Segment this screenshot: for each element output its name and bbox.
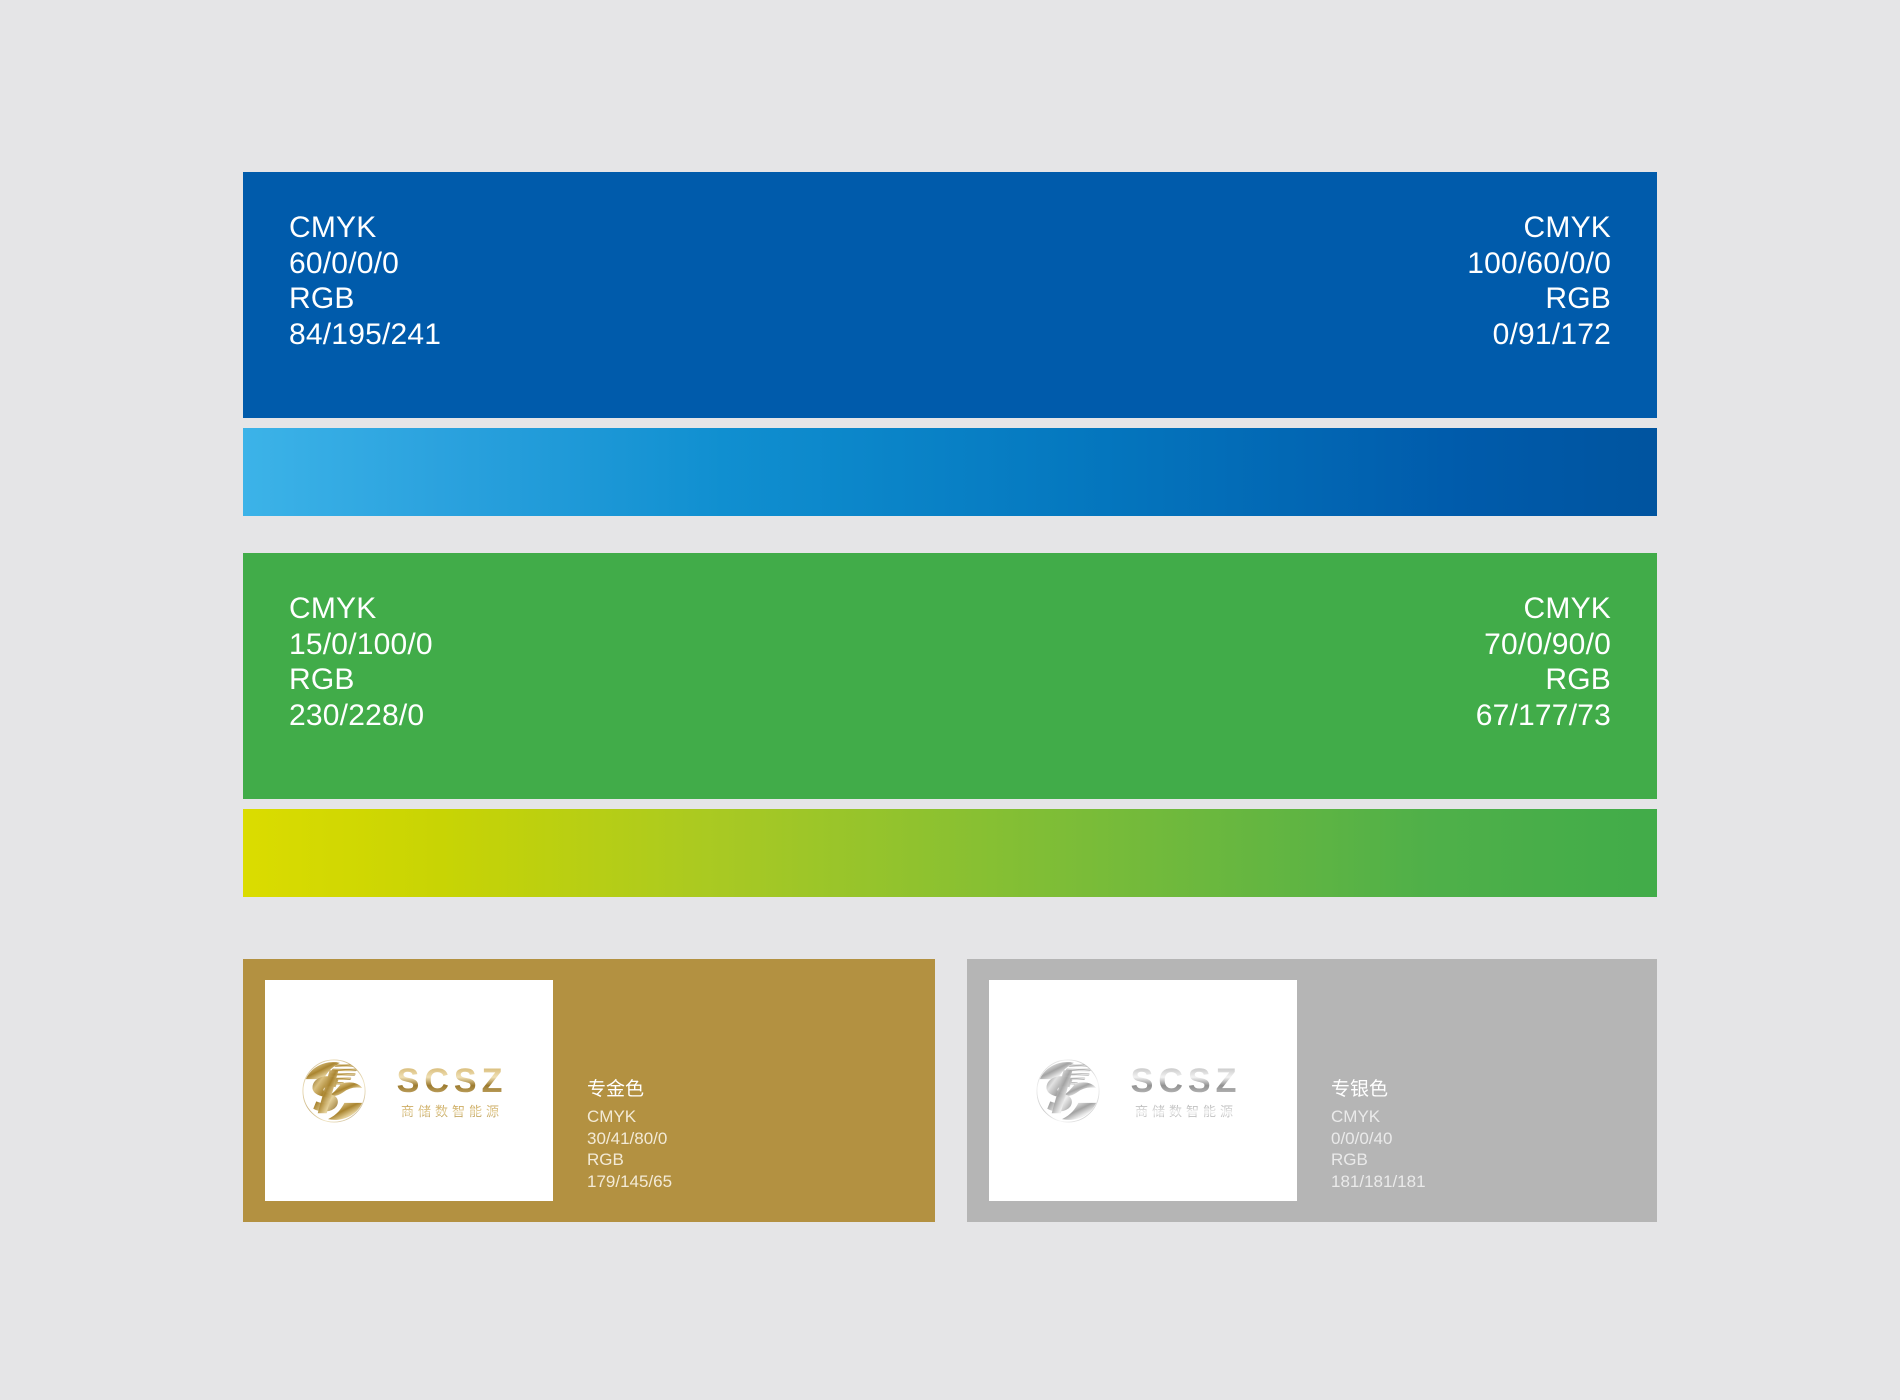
rgb-label: RGB [587,1149,672,1171]
rgb-label: RGB [289,281,441,317]
cmyk-label: CMYK [1467,210,1611,246]
scsz-letters-icon: SCSZ [382,1061,522,1101]
rgb-value: 179/145/65 [587,1171,672,1193]
silver-card-title: 专银色 [1331,1077,1426,1102]
gold-logo-card: SCSZ 商储数智能源 专金色 [243,959,935,1222]
scsz-emblem-icon [1031,1054,1105,1128]
cmyk-label: CMYK [587,1106,672,1128]
scsz-subtitle-icon: 商储数智能源 [382,1101,522,1121]
blue-gradient-bar [243,428,1657,516]
silver-logo-card: SCSZ 商储数智能源 专银色 [967,959,1657,1222]
rgb-value: 230/228/0 [289,698,433,734]
cmyk-value: 100/60/0/0 [1467,246,1611,282]
rgb-value: 67/177/73 [1476,698,1611,734]
cmyk-label: CMYK [289,591,433,627]
cmyk-value: 30/41/80/0 [587,1128,672,1150]
blue-color-swatch: CMYK 60/0/0/0 RGB 84/195/241 CMYK 100/60… [243,172,1657,418]
rgb-value: 84/195/241 [289,317,441,353]
rgb-label: RGB [289,662,433,698]
gold-logo-plate: SCSZ 商储数智能源 [265,980,553,1201]
rgb-value: 181/181/181 [1331,1171,1426,1193]
cmyk-label: CMYK [1476,591,1611,627]
rgb-label: RGB [1331,1149,1426,1171]
scsz-logo-silver: SCSZ 商储数智能源 [1031,1054,1256,1128]
rgb-label: RGB [1476,662,1611,698]
gold-card-title: 专金色 [587,1077,672,1102]
silver-card-spec: 专银色 CMYK 0/0/0/40 RGB 181/181/181 [1331,1077,1426,1192]
silver-logo-plate: SCSZ 商储数智能源 [989,980,1297,1201]
rgb-value: 0/91/172 [1467,317,1611,353]
cmyk-value: 70/0/90/0 [1476,627,1611,663]
gold-card-spec: 专金色 CMYK 30/41/80/0 RGB 179/145/65 [587,1077,672,1192]
green-swatch-right-spec: CMYK 70/0/90/0 RGB 67/177/73 [1476,591,1611,733]
svg-text:商储数智能源: 商储数智能源 [1134,1105,1236,1120]
scsz-wordmark-gold: SCSZ 商储数智能源 [382,1061,522,1121]
green-color-swatch: CMYK 15/0/100/0 RGB 230/228/0 CMYK 70/0/… [243,553,1657,799]
cmyk-label: CMYK [289,210,441,246]
rgb-label: RGB [1467,281,1611,317]
scsz-logo-gold: SCSZ 商储数智能源 [297,1054,522,1128]
scsz-emblem-icon [297,1054,371,1128]
cmyk-value: 60/0/0/0 [289,246,441,282]
svg-text:SCSZ: SCSZ [1130,1062,1241,1100]
cmyk-value: 0/0/0/40 [1331,1128,1426,1150]
green-gradient-bar [243,809,1657,897]
scsz-wordmark-silver: SCSZ 商储数智能源 [1116,1061,1256,1121]
blue-swatch-right-spec: CMYK 100/60/0/0 RGB 0/91/172 [1467,210,1611,352]
scsz-letters-icon: SCSZ [1116,1061,1256,1101]
svg-text:商储数智能源: 商储数智能源 [400,1105,502,1120]
svg-text:SCSZ: SCSZ [396,1062,507,1100]
cmyk-label: CMYK [1331,1106,1426,1128]
brand-color-specification-page: CMYK 60/0/0/0 RGB 84/195/241 CMYK 100/60… [0,0,1900,1400]
blue-swatch-left-spec: CMYK 60/0/0/0 RGB 84/195/241 [289,210,441,352]
cmyk-value: 15/0/100/0 [289,627,433,663]
green-swatch-left-spec: CMYK 15/0/100/0 RGB 230/228/0 [289,591,433,733]
scsz-subtitle-icon: 商储数智能源 [1116,1101,1256,1121]
